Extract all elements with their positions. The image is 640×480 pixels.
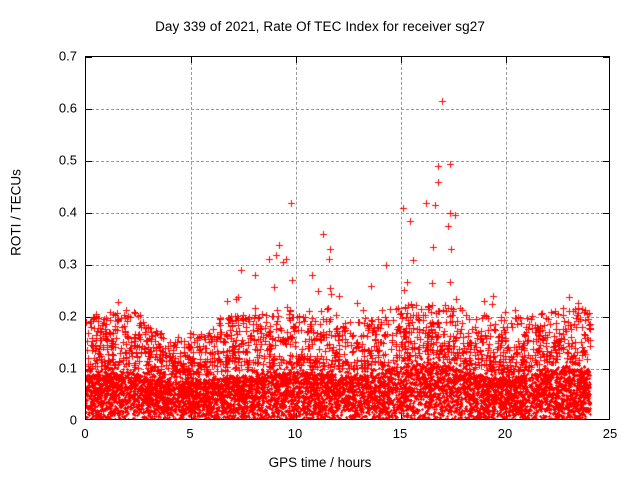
y-tick-label: 0.1 [59, 361, 77, 376]
y-tick-label: 0.3 [59, 257, 77, 272]
y-tick-label: 0 [70, 413, 77, 428]
y-axis-title: ROTI / TECUs [9, 113, 24, 313]
page-title: Day 339 of 2021, Rate Of TEC Index for r… [0, 19, 640, 34]
x-tick-label: 25 [603, 426, 617, 441]
y-tick-label: 0.2 [59, 309, 77, 324]
plot-area [85, 56, 610, 420]
scatter-points [86, 57, 610, 420]
y-tick-label: 0.7 [59, 49, 77, 64]
x-tick-label: 10 [288, 426, 302, 441]
y-tick-label: 0.5 [59, 153, 77, 168]
y-tick-label: 0.6 [59, 101, 77, 116]
x-tick-label: 20 [498, 426, 512, 441]
x-tick-label: 0 [81, 426, 88, 441]
y-tick-label: 0.4 [59, 205, 77, 220]
x-tick-label: 5 [186, 426, 193, 441]
x-tick-label: 15 [393, 426, 407, 441]
x-axis-title: GPS time / hours [0, 455, 640, 470]
chart-page: Day 339 of 2021, Rate Of TEC Index for r… [0, 0, 640, 480]
x-axis-tick-labels: 0510152025 [85, 426, 610, 446]
